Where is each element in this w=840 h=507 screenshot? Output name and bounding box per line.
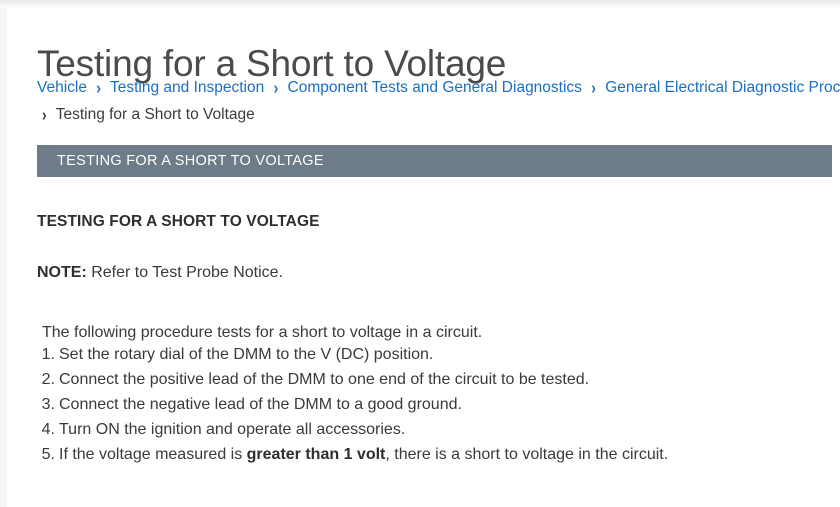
- step-number: 5.: [37, 442, 55, 467]
- step-text: Turn ON the ignition and operate all acc…: [59, 421, 405, 438]
- chevron-right-icon: ›: [91, 71, 106, 104]
- chevron-right-icon: ›: [37, 98, 52, 131]
- procedure-intro: The following procedure tests for a shor…: [42, 324, 827, 342]
- chevron-right-icon: ›: [586, 71, 601, 104]
- list-item: 2.Connect the positive lead of the DMM t…: [37, 367, 827, 392]
- breadcrumb-item-vehicle[interactable]: Vehicle: [37, 79, 87, 96]
- breadcrumb: Vehicle › Testing and Inspection › Compo…: [37, 74, 840, 128]
- top-header-strip: [0, 0, 840, 8]
- document-content-area: Testing for a Short to Voltage Vehicle ›…: [7, 8, 840, 507]
- step-text: Connect the negative lead of the DMM to …: [59, 396, 462, 413]
- breadcrumb-item-general-electrical-diagnostic-procedures[interactable]: General Electrical Diagnostic Procedures: [605, 79, 840, 96]
- note-paragraph: NOTE: Refer to Test Probe Notice.: [37, 264, 827, 282]
- left-gutter: [0, 8, 7, 507]
- section-header-label: TESTING FOR A SHORT TO VOLTAGE: [57, 153, 324, 169]
- breadcrumb-second-row: › Testing for a Short to Voltage: [37, 101, 840, 128]
- list-item: 1.Set the rotary dial of the DMM to the …: [37, 342, 827, 367]
- step-text: Set the rotary dial of the DMM to the V …: [59, 346, 433, 363]
- list-item: 4.Turn ON the ignition and operate all a…: [37, 417, 827, 442]
- step-text: Connect the positive lead of the DMM to …: [59, 371, 589, 388]
- page-root: Testing for a Short to Voltage Vehicle ›…: [0, 0, 840, 507]
- step-text-emphasis: greater than 1 volt: [247, 446, 386, 463]
- breadcrumb-item-component-tests-and-general-diagnostics[interactable]: Component Tests and General Diagnostics: [288, 79, 582, 96]
- procedure-step-list: 1.Set the rotary dial of the DMM to the …: [37, 342, 827, 467]
- breadcrumb-item-current: Testing for a Short to Voltage: [56, 106, 255, 123]
- article-heading: TESTING FOR A SHORT TO VOLTAGE: [37, 213, 827, 231]
- article-body: TESTING FOR A SHORT TO VOLTAGE NOTE: Ref…: [37, 213, 827, 467]
- note-text: Refer to Test Probe Notice.: [87, 264, 283, 281]
- step-number: 3.: [37, 392, 55, 417]
- step-text-after: , there is a short to voltage in the cir…: [385, 446, 668, 463]
- list-item: 3.Connect the negative lead of the DMM t…: [37, 392, 827, 417]
- step-number: 1.: [37, 342, 55, 367]
- step-number: 2.: [37, 367, 55, 392]
- step-number: 4.: [37, 417, 55, 442]
- section-header-bar: TESTING FOR A SHORT TO VOLTAGE: [37, 145, 832, 177]
- step-text-before: If the voltage measured is: [59, 446, 247, 463]
- list-item: 5.If the voltage measured is greater tha…: [37, 442, 827, 467]
- note-label: NOTE:: [37, 264, 87, 281]
- breadcrumb-item-testing-and-inspection[interactable]: Testing and Inspection: [110, 79, 264, 96]
- chevron-right-icon: ›: [269, 71, 284, 104]
